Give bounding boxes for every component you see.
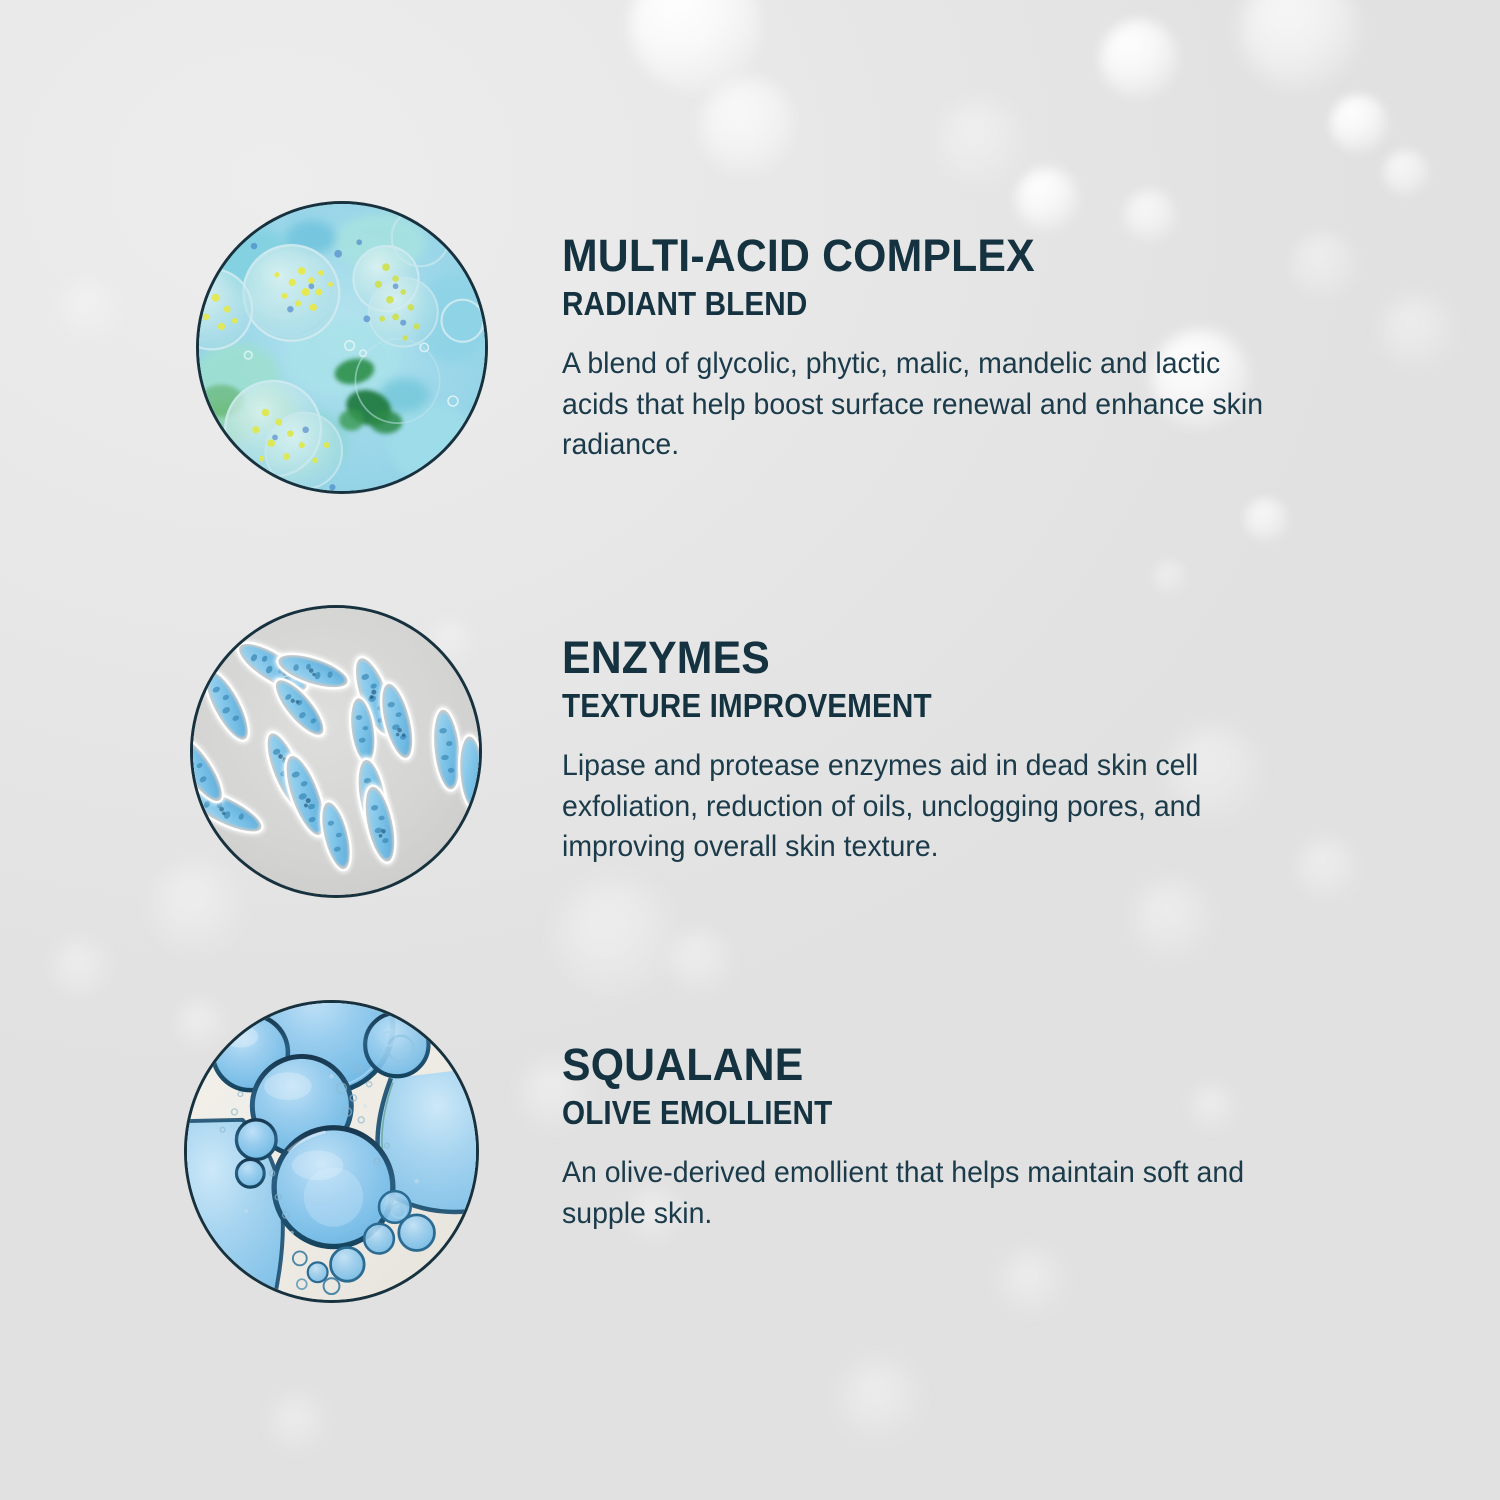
ingredient-title: SQUALANE [562,1042,1284,1088]
ingredient-list: MULTI-ACID COMPLEX RADIANT BLEND A blend… [0,0,1500,1500]
ingredient-description: An olive-derived emollient that helps ma… [562,1153,1276,1234]
ingredient-image-2 [184,1000,479,1303]
ingredient-text-0: MULTI-ACID COMPLEX RADIANT BLEND A blend… [562,201,1322,466]
ingredient-row: MULTI-ACID COMPLEX RADIANT BLEND A blend… [0,201,1500,494]
ingredient-row: SQUALANE OLIVE EMOLLIENT An olive-derive… [0,1000,1500,1303]
ingredient-text-2: SQUALANE OLIVE EMOLLIENT An olive-derive… [562,1000,1322,1234]
ingredient-description: A blend of glycolic, phytic, malic, mand… [562,344,1276,466]
ingredient-text-1: ENZYMES TEXTURE IMPROVEMENT Lipase and p… [562,605,1322,868]
ingredient-subtitle: TEXTURE IMPROVEMENT [562,689,1246,724]
ingredient-subtitle: OLIVE EMOLLIENT [562,1096,1246,1131]
algae-cells-microscopy-circle [196,201,488,494]
ingredient-image-0 [196,201,488,494]
ingredient-subtitle: RADIANT BLEND [562,287,1246,322]
oil-droplets-macro-circle [184,1000,479,1303]
ingredient-image-1 [190,605,482,898]
ingredient-row: ENZYMES TEXTURE IMPROVEMENT Lipase and p… [0,605,1500,898]
ingredient-title: MULTI-ACID COMPLEX [562,233,1284,279]
ingredient-title: ENZYMES [562,635,1284,681]
ingredient-infographic-page: MULTI-ACID COMPLEX RADIANT BLEND A blend… [0,0,1500,1500]
enzyme-cells-microscopy-circle [190,605,482,898]
ingredient-description: Lipase and protease enzymes aid in dead … [562,746,1276,868]
